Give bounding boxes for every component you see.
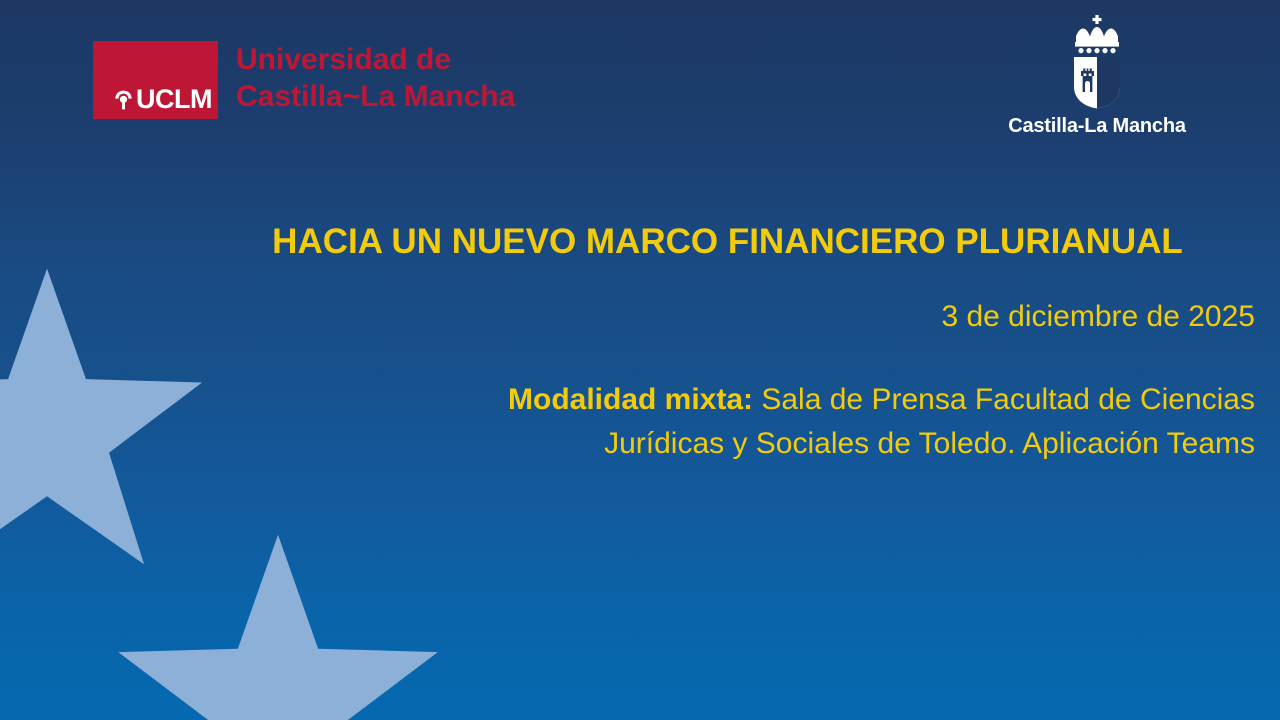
- antenna-icon: [113, 88, 134, 112]
- star-small-icon: [108, 528, 448, 720]
- venue-lead-label: Modalidad mixta:: [508, 383, 753, 416]
- castilla-la-mancha-logo: Castilla-La Mancha: [997, 14, 1197, 138]
- uclm-logo: UCLM Universidad de Castilla~La Mancha: [93, 41, 515, 119]
- slide-date: 3 de diciembre de 2025: [200, 262, 1255, 335]
- uclm-university-name: Universidad de Castilla~La Mancha: [236, 41, 515, 115]
- uclm-wordmark: UCLM: [136, 86, 212, 113]
- uclm-name-line2: Castilla~La Mancha: [236, 79, 515, 116]
- uclm-logo-mark: UCLM: [93, 41, 218, 119]
- venue-line1: Sala de Prensa Facultad de Ciencias: [753, 383, 1255, 416]
- crowned-shield-castle-icon: [1061, 14, 1133, 110]
- slide-content: HACIA UN NUEVO MARCO FINANCIERO PLURIANU…: [200, 222, 1255, 465]
- venue-line2: Jurídicas y Sociales de Toledo. Aplicaci…: [604, 427, 1255, 460]
- slide-title: HACIA UN NUEVO MARCO FINANCIERO PLURIANU…: [200, 222, 1255, 262]
- star-large-icon: [0, 262, 212, 592]
- uclm-mark-inner: UCLM: [113, 86, 212, 113]
- presentation-slide: UCLM Universidad de Castilla~La Mancha: [0, 0, 1280, 720]
- slide-venue: Modalidad mixta: Sala de Prensa Facultad…: [200, 335, 1255, 465]
- castilla-la-mancha-label: Castilla-La Mancha: [1008, 115, 1186, 138]
- uclm-name-line1: Universidad de: [236, 42, 515, 79]
